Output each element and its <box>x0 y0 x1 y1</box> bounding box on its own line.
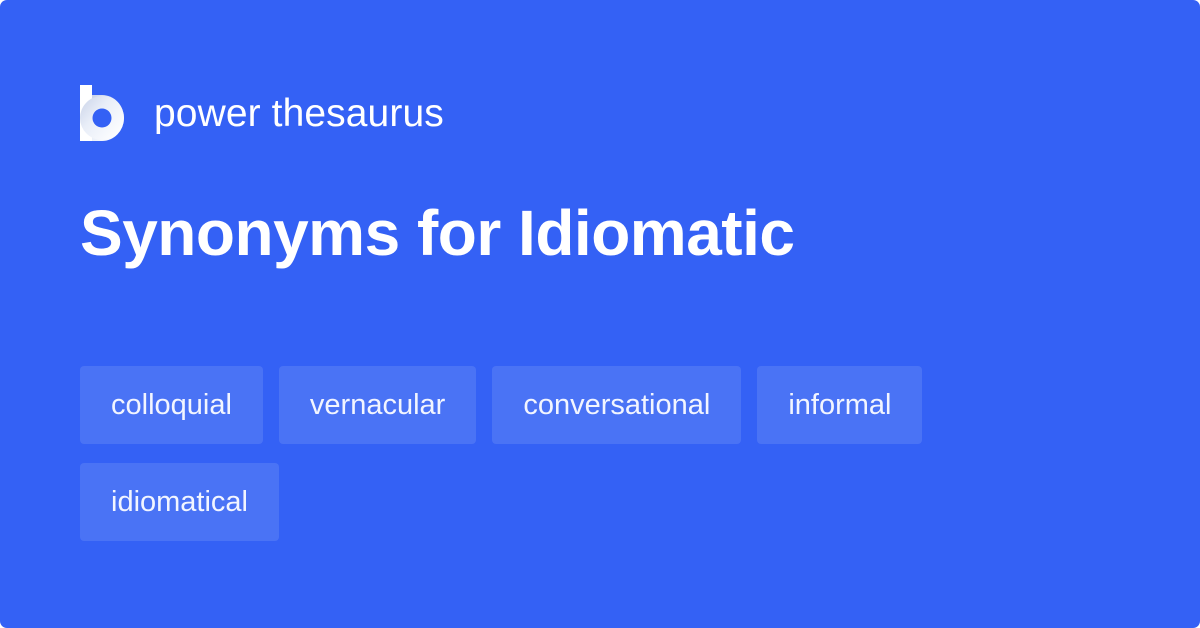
page-title: Synonyms for Idiomatic <box>80 198 794 270</box>
power-thesaurus-b-logo-icon <box>80 85 130 141</box>
synonym-chip[interactable]: informal <box>757 366 922 444</box>
synonym-chip[interactable]: conversational <box>492 366 741 444</box>
synonym-chip[interactable]: vernacular <box>279 366 476 444</box>
synonym-chip[interactable]: idiomatical <box>80 463 279 541</box>
brand-lockup[interactable]: power thesaurus <box>80 82 444 144</box>
synonyms-share-card: power thesaurus Synonyms for Idiomatic c… <box>0 0 1200 628</box>
synonym-chip[interactable]: colloquial <box>80 366 263 444</box>
brand-name: power thesaurus <box>154 94 444 133</box>
synonym-list: colloquial vernacular conversational inf… <box>80 366 1080 541</box>
